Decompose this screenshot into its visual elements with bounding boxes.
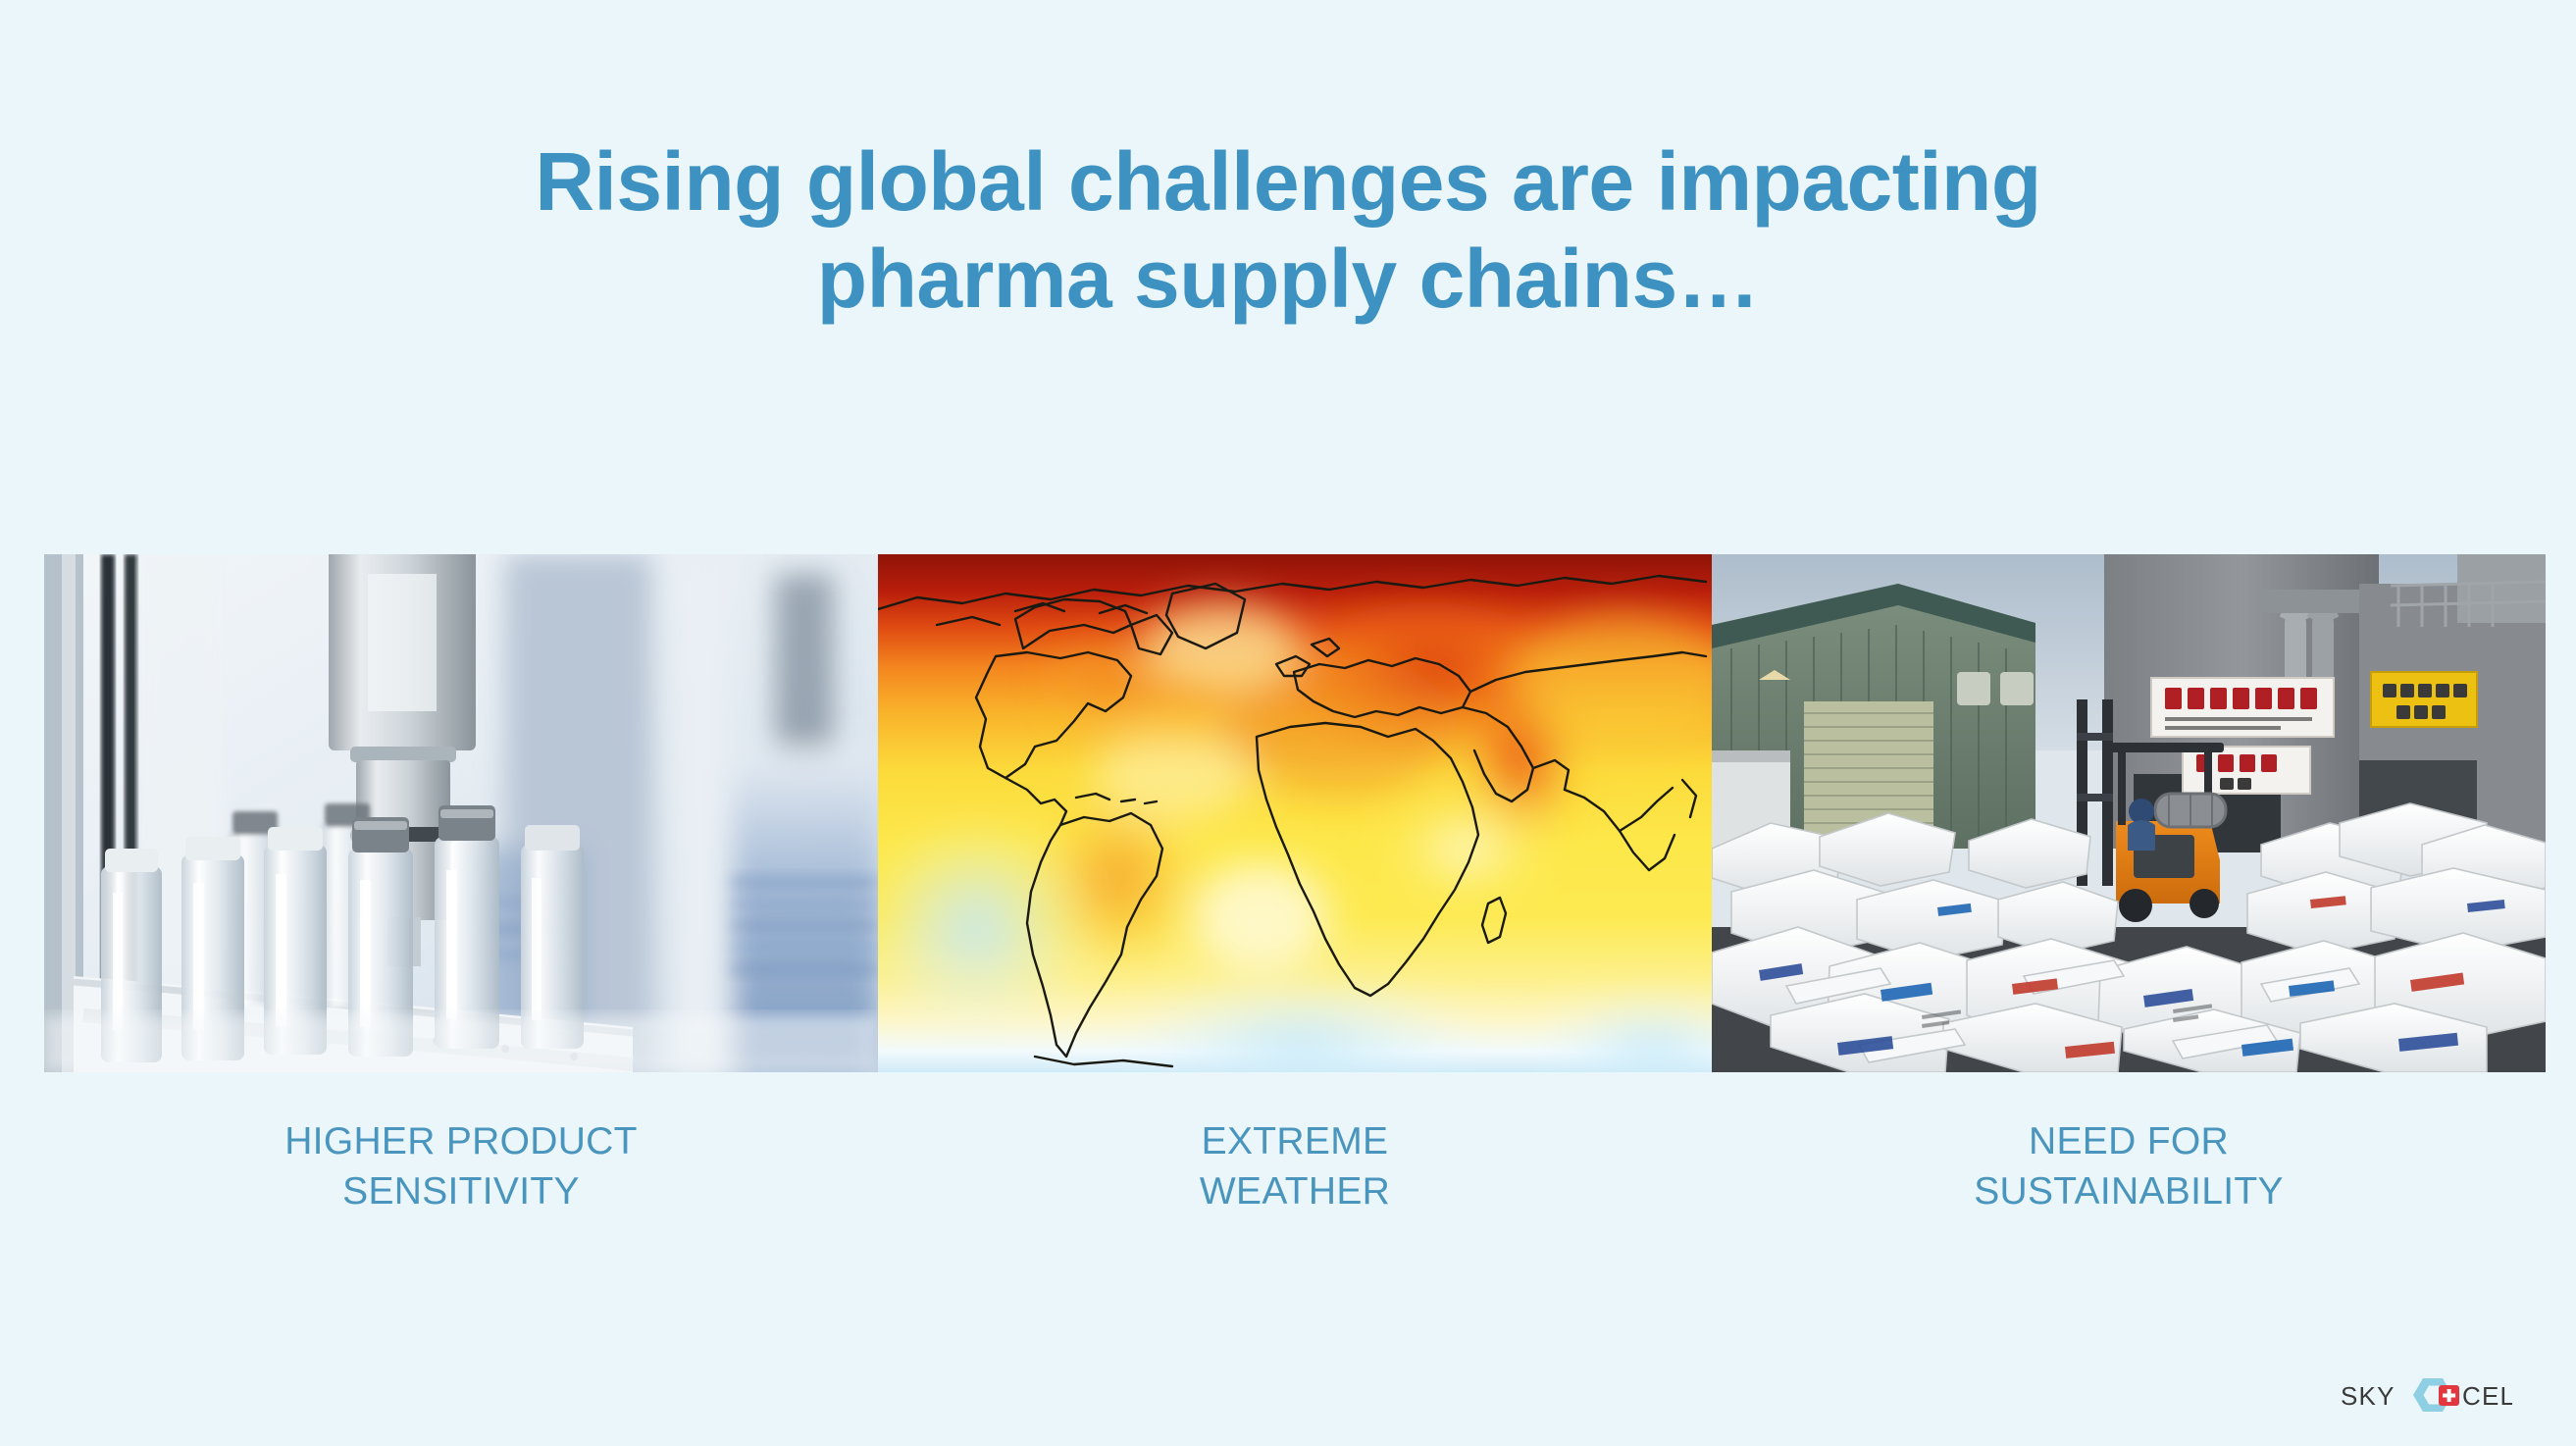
page-title: Rising global challenges are impacting p… <box>0 133 2576 328</box>
panel-caption: EXTREME WEATHER <box>1200 1116 1390 1217</box>
styrofoam-box-waste-pile-image <box>1712 554 2546 1072</box>
panel-caption: NEED FOR SUSTAINABILITY <box>1974 1116 2284 1217</box>
panel-need-for-sustainability: NEED FOR SUSTAINABILITY <box>1712 554 2546 1217</box>
swiss-cross-icon <box>2439 1385 2459 1406</box>
panel-higher-product-sensitivity: HIGHER PRODUCT SENSITIVITY <box>44 554 878 1217</box>
logo-text-cell: CELL <box>2462 1381 2512 1411</box>
logo-text-sky: SKY <box>2341 1381 2396 1411</box>
challenge-panels: HIGHER PRODUCT SENSITIVITY <box>44 554 2532 1217</box>
global-temperature-anomaly-map-image <box>878 554 1712 1072</box>
panel-caption: HIGHER PRODUCT SENSITIVITY <box>284 1116 638 1217</box>
skycell-logo: SKY CELL <box>2341 1368 2512 1422</box>
pharmaceutical-vial-filling-line-image <box>44 554 878 1072</box>
panel-extreme-weather: EXTREME WEATHER <box>878 554 1712 1217</box>
